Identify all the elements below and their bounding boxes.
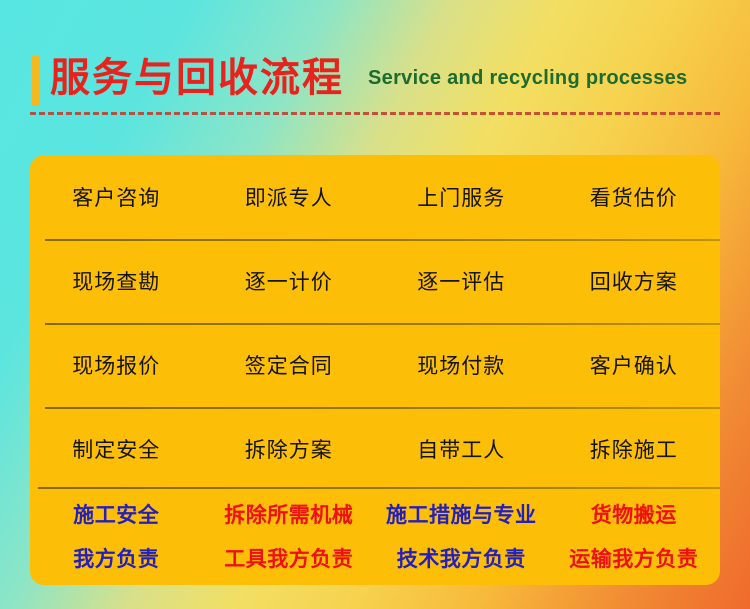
table-row: 客户咨询 即派专人 上门服务 看货估价	[30, 155, 720, 239]
process-step: 拆除方案	[203, 434, 376, 464]
responsibility-cell: 施工安全 我方负责	[30, 493, 203, 581]
responsibility-detail: 运输我方负责	[548, 537, 721, 581]
process-step: 现场查勘	[30, 266, 203, 296]
table-row: 现场查勘 逐一计价 逐一评估 回收方案	[30, 239, 720, 323]
responsibility-cell: 施工措施与专业 技术我方负责	[375, 493, 548, 581]
process-step: 回收方案	[548, 266, 721, 296]
process-step: 签定合同	[203, 350, 376, 380]
responsibility-title: 施工安全	[30, 493, 203, 537]
process-step: 现场付款	[375, 350, 548, 380]
responsibility-detail: 我方负责	[30, 537, 203, 581]
process-table-card: 客户咨询 即派专人 上门服务 看货估价 现场查勘 逐一计价 逐一评估 回收方案 …	[30, 155, 720, 585]
table-row: 现场报价 签定合同 现场付款 客户确认	[30, 323, 720, 407]
page-title: 服务与回收流程	[50, 50, 344, 106]
poster-header: 服务与回收流程 Service and recycling processes	[0, 0, 750, 130]
responsibility-title: 货物搬运	[548, 493, 721, 537]
responsibility-row: 施工安全 我方负责 拆除所需机械 工具我方负责 施工措施与专业 技术我方负责 货…	[30, 489, 720, 585]
responsibility-detail: 技术我方负责	[375, 537, 548, 581]
table-row: 制定安全 拆除方案 自带工人 拆除施工	[30, 407, 720, 491]
dashed-divider	[30, 112, 720, 115]
process-step: 拆除施工	[548, 434, 721, 464]
process-step: 自带工人	[375, 434, 548, 464]
process-step: 上门服务	[375, 182, 548, 212]
process-step: 客户咨询	[30, 182, 203, 212]
responsibility-cell: 拆除所需机械 工具我方负责	[203, 493, 376, 581]
process-step: 逐一评估	[375, 266, 548, 296]
title-accent-bar	[32, 56, 40, 106]
page-subtitle: Service and recycling processes	[368, 64, 687, 92]
process-step: 客户确认	[548, 350, 721, 380]
responsibility-title: 施工措施与专业	[375, 493, 548, 537]
process-step: 现场报价	[30, 350, 203, 380]
responsibility-cell: 货物搬运 运输我方负责	[548, 493, 721, 581]
promo-poster: 服务与回收流程 Service and recycling processes …	[0, 0, 750, 609]
process-step: 逐一计价	[203, 266, 376, 296]
responsibility-title: 拆除所需机械	[203, 493, 376, 537]
responsibility-detail: 工具我方负责	[203, 537, 376, 581]
process-step: 看货估价	[548, 182, 721, 212]
process-step: 制定安全	[30, 434, 203, 464]
process-step: 即派专人	[203, 182, 376, 212]
